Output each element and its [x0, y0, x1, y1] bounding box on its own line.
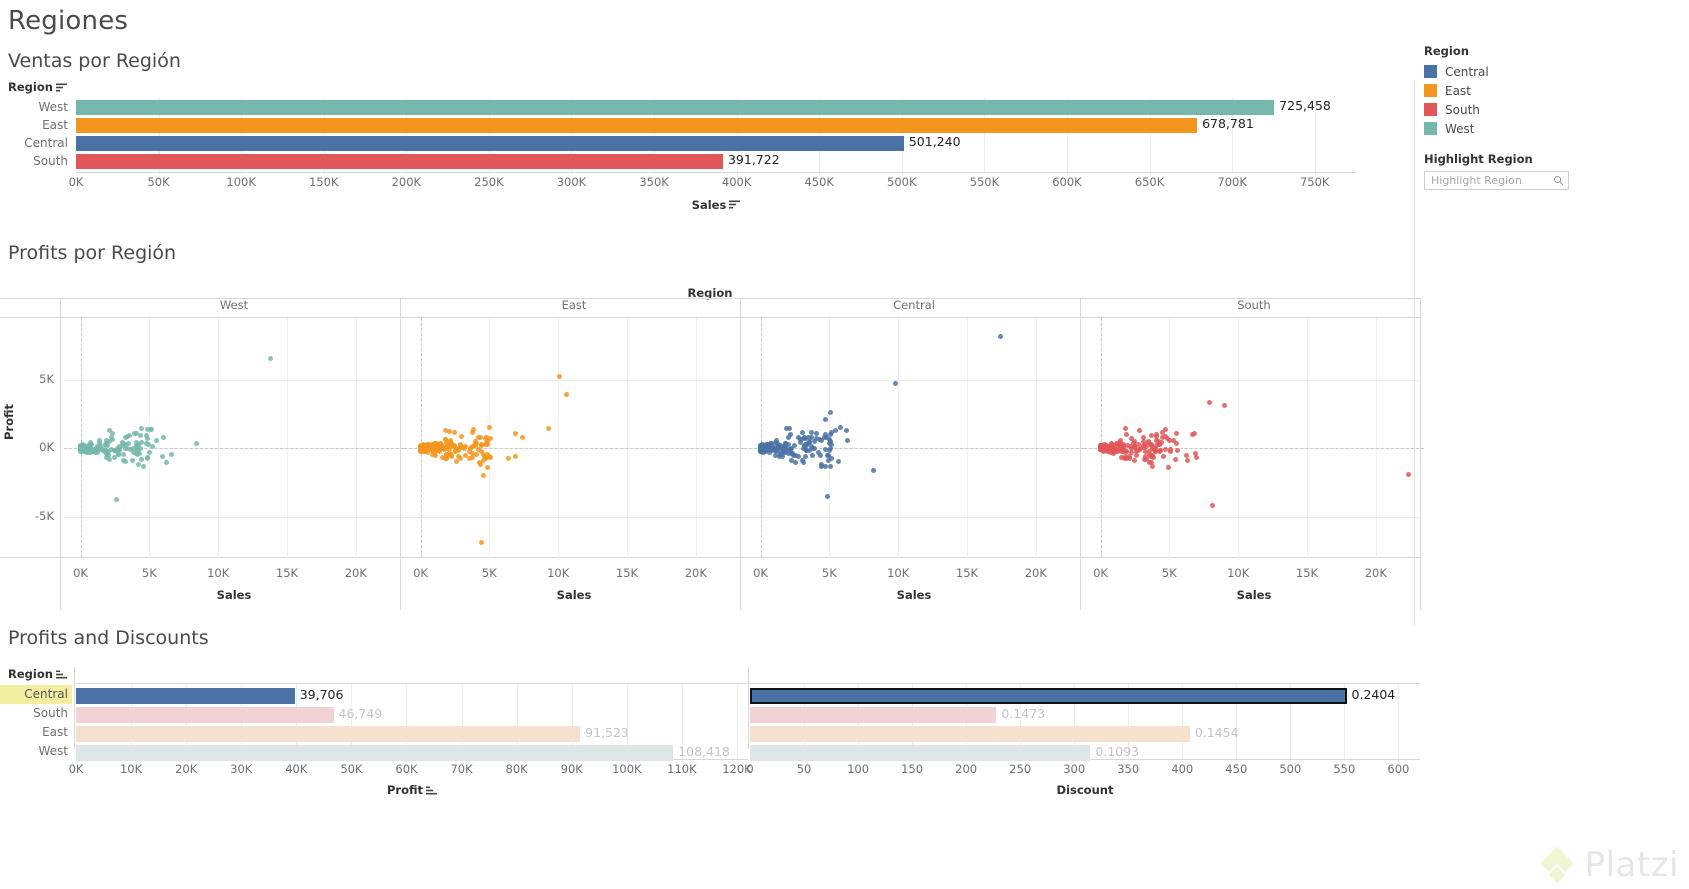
- scatter-point[interactable]: [768, 441, 773, 446]
- scatter-point[interactable]: [1174, 431, 1179, 436]
- scatter-point[interactable]: [1166, 465, 1171, 470]
- profits-row-header-label: Region: [8, 667, 53, 681]
- discount-bar-south[interactable]: [750, 707, 996, 723]
- scatter-x-gridline: [1238, 318, 1239, 558]
- scatter-point[interactable]: [828, 464, 833, 469]
- scatter-x-tick: 20K: [685, 566, 707, 580]
- profit-scatter-chart: Region Profit 5K0K-5K West0K5K10K15K20KS…: [0, 270, 1420, 615]
- legend-swatch-west: [1424, 122, 1437, 135]
- scatter-point[interactable]: [136, 462, 141, 467]
- scatter-point[interactable]: [154, 438, 159, 443]
- scatter-point-outlier[interactable]: [998, 334, 1003, 339]
- scatter-point-outlier[interactable]: [194, 441, 199, 446]
- scatter-x-gridline: [1376, 318, 1377, 558]
- profit-x-axis-title[interactable]: Profit: [76, 783, 748, 797]
- legend-item-central[interactable]: Central: [1424, 62, 1682, 81]
- scatter-point[interactable]: [1137, 428, 1142, 433]
- scatter-point[interactable]: [468, 446, 473, 451]
- discount-x-tick: 200: [955, 762, 977, 776]
- profit-x-tick: 80K: [506, 762, 528, 776]
- scatter-point[interactable]: [132, 431, 137, 436]
- scatter-point[interactable]: [448, 453, 453, 458]
- discount-x-axis-title-label: Discount: [1057, 783, 1114, 797]
- scatter-point-outlier[interactable]: [1210, 503, 1215, 508]
- sales-x-tick: 250K: [474, 175, 504, 189]
- scatter-point[interactable]: [1153, 449, 1158, 454]
- discount-value-central: 0.2404: [1352, 687, 1396, 702]
- scatter-y-tick: 5K: [8, 372, 54, 386]
- profit-bar-central[interactable]: [76, 688, 295, 704]
- scatter-point[interactable]: [471, 427, 476, 432]
- scatter-y-tick: -5K: [8, 509, 54, 523]
- discount-x-tick: 450: [1225, 762, 1247, 776]
- profit-bar-east[interactable]: [76, 726, 580, 742]
- sales-cat-west[interactable]: West: [0, 98, 72, 116]
- scatter-point-outlier[interactable]: [150, 444, 155, 449]
- scatter-point[interactable]: [1184, 453, 1189, 458]
- scatter-point[interactable]: [1113, 449, 1118, 454]
- scatter-x-tick: 10K: [547, 566, 569, 580]
- scatter-point[interactable]: [454, 459, 459, 464]
- scatter-point[interactable]: [473, 441, 478, 446]
- scatter-x-tick: 10K: [207, 566, 229, 580]
- scatter-y-tick: 0K: [8, 440, 54, 454]
- scatter-panel-west[interactable]: [64, 318, 404, 586]
- scatter-panel-title-central: Central: [744, 298, 1084, 312]
- scatter-point[interactable]: [164, 460, 169, 465]
- scatter-point[interactable]: [1125, 443, 1130, 448]
- scatter-point[interactable]: [1132, 458, 1137, 463]
- sales-x-tick: 700K: [1217, 175, 1247, 189]
- discount-x-tick: 250: [1009, 762, 1031, 776]
- scatter-point[interactable]: [1161, 454, 1166, 459]
- scatter-point[interactable]: [484, 441, 489, 446]
- profit-x-tick: 20K: [175, 762, 197, 776]
- sort-ascending-icon[interactable]: [56, 670, 67, 679]
- sales-value-central: 501,240: [909, 134, 961, 149]
- scatter-point-outlier[interactable]: [1149, 433, 1154, 438]
- scatter-point[interactable]: [1159, 440, 1164, 445]
- scatter-point[interactable]: [139, 440, 144, 445]
- discount-x-tick: 0: [746, 762, 753, 776]
- sales-axis-line: [76, 172, 1356, 173]
- scatter-point[interactable]: [1163, 447, 1168, 452]
- scatter-x-tick: 10K: [1227, 566, 1249, 580]
- scatter-y-axis-title: Profit: [2, 404, 16, 440]
- scatter-point[interactable]: [1158, 448, 1163, 453]
- scatter-panel-central[interactable]: [744, 318, 1084, 586]
- scatter-point-outlier[interactable]: [481, 473, 486, 478]
- profit-bar-west[interactable]: [76, 745, 673, 761]
- profits-cat-south[interactable]: South: [0, 704, 72, 723]
- profits-row-header[interactable]: Region: [8, 667, 67, 681]
- legend-label-west: West: [1445, 122, 1475, 136]
- scatter-point[interactable]: [1124, 449, 1129, 454]
- sales-row-header[interactable]: Region: [8, 80, 67, 94]
- sales-cat-central[interactable]: Central: [0, 134, 72, 152]
- profit-value-east: 91,523: [585, 725, 629, 740]
- scatter-point[interactable]: [448, 441, 453, 446]
- scatter-point[interactable]: [513, 454, 518, 459]
- legend-item-west[interactable]: West: [1424, 119, 1682, 138]
- scatter-x-zero-line: [1101, 318, 1102, 558]
- scatter-point[interactable]: [487, 425, 492, 430]
- scatter-point-outlier[interactable]: [1406, 472, 1411, 477]
- profit-divider: [74, 667, 75, 749]
- legend-label-east: East: [1445, 84, 1471, 98]
- scatter-x-axis-title: Sales: [1084, 588, 1424, 602]
- sort-descending-icon[interactable]: [729, 200, 740, 209]
- sales-x-tick: 600K: [1052, 175, 1082, 189]
- highlight-region-title: Highlight Region: [1424, 152, 1682, 166]
- profit-value-central: 39,706: [300, 687, 344, 702]
- sales-x-tick: 350K: [639, 175, 669, 189]
- scatter-panel-title-south: South: [1084, 298, 1424, 312]
- legend-item-south[interactable]: South: [1424, 100, 1682, 119]
- profits-cat-central[interactable]: Central: [0, 685, 72, 704]
- watermark-text: Platzi: [1585, 845, 1679, 885]
- sales-x-tick: 200K: [392, 175, 422, 189]
- profits-cat-east[interactable]: East: [0, 723, 72, 742]
- scatter-x-zero-line: [421, 318, 422, 558]
- sales-value-east: 678,781: [1202, 116, 1254, 131]
- scatter-point-outlier[interactable]: [268, 356, 273, 361]
- scatter-point[interactable]: [107, 439, 112, 444]
- scatter-point[interactable]: [1123, 454, 1128, 459]
- discount-gridline: [1398, 684, 1399, 762]
- profit-x-tick: 110K: [667, 762, 697, 776]
- scatter-point-outlier[interactable]: [564, 392, 569, 397]
- scatter-point-outlier[interactable]: [893, 381, 898, 386]
- discount-bar-east[interactable]: [750, 726, 1190, 742]
- profit-x-tick: 10K: [120, 762, 142, 776]
- sales-bar-east[interactable]: [76, 118, 1197, 133]
- scatter-point[interactable]: [814, 431, 819, 436]
- legend-label-south: South: [1445, 103, 1480, 117]
- scatter-point[interactable]: [1160, 430, 1165, 435]
- scatter-x-tick: 5K: [142, 566, 157, 580]
- scatter-point-outlier[interactable]: [1222, 403, 1227, 408]
- scatter-point-outlier[interactable]: [479, 540, 484, 545]
- scatter-point[interactable]: [513, 431, 518, 436]
- discount-value-west: 0.1093: [1095, 744, 1139, 759]
- profit-gridline: [737, 684, 738, 762]
- scatter-x-tick: 20K: [1025, 566, 1047, 580]
- scatter-point[interactable]: [786, 435, 791, 440]
- scatter-point[interactable]: [149, 427, 154, 432]
- sales-value-south: 391,722: [728, 152, 780, 167]
- discount-value-south: 0.1473: [1001, 706, 1045, 721]
- legend-panel: Region Central East South West Highlight…: [1424, 44, 1682, 190]
- sales-x-tick: 550K: [970, 175, 1000, 189]
- scatter-point[interactable]: [459, 434, 464, 439]
- discount-x-tick: 550: [1333, 762, 1355, 776]
- discount-x-tick: 100: [847, 762, 869, 776]
- sales-row-header-label: Region: [8, 80, 53, 94]
- scatter-point[interactable]: [780, 454, 785, 459]
- scatter-point[interactable]: [1137, 447, 1142, 452]
- panel-divider: [1414, 80, 1415, 625]
- profit-x-tick: 30K: [230, 762, 252, 776]
- scatter-point[interactable]: [141, 464, 146, 469]
- sales-bar-chart: Region West East Central South 725,45867…: [0, 80, 1410, 225]
- scatter-point[interactable]: [1142, 442, 1147, 447]
- scatter-point[interactable]: [827, 441, 832, 446]
- scatter-point[interactable]: [1154, 438, 1159, 443]
- page-title: Regiones: [8, 6, 128, 36]
- legend-swatch-south: [1424, 103, 1437, 116]
- sales-x-tick: 100K: [226, 175, 256, 189]
- sales-x-tick: 50K: [147, 175, 169, 189]
- scatter-x-tick: 0K: [73, 566, 88, 580]
- scatter-x-ticks: 0K5K10K15K20K: [744, 566, 1084, 582]
- discount-x-tick: 600: [1387, 762, 1409, 776]
- discount-bar-west[interactable]: [750, 745, 1090, 761]
- scatter-x-tick: 20K: [345, 566, 367, 580]
- sales-x-tick: 650K: [1135, 175, 1165, 189]
- scatter-point[interactable]: [456, 448, 461, 453]
- scatter-point-outlier[interactable]: [823, 417, 828, 422]
- scatter-point[interactable]: [130, 458, 135, 463]
- highlight-region-input[interactable]: [1429, 173, 1553, 188]
- scatter-point[interactable]: [803, 454, 808, 459]
- scatter-point[interactable]: [121, 452, 126, 457]
- scatter-x-axis-title: Sales: [744, 588, 1084, 602]
- scatter-panel-divider: [740, 298, 741, 610]
- scatter-point[interactable]: [161, 435, 166, 440]
- scatter-point[interactable]: [836, 459, 841, 464]
- sort-descending-icon[interactable]: [56, 83, 67, 92]
- scatter-x-tick: 15K: [1296, 566, 1318, 580]
- scatter-point[interactable]: [823, 464, 828, 469]
- scatter-x-gridline: [287, 318, 288, 558]
- discount-x-tick: 400: [1171, 762, 1193, 776]
- scatter-point[interactable]: [506, 456, 511, 461]
- scatter-point[interactable]: [121, 458, 126, 463]
- scatter-point[interactable]: [787, 426, 792, 431]
- scatter-point[interactable]: [112, 455, 117, 460]
- scatter-x-gridline: [356, 318, 357, 558]
- scatter-point[interactable]: [1154, 432, 1159, 437]
- sales-x-axis-title[interactable]: Sales: [76, 194, 1356, 213]
- discount-divider: [748, 667, 749, 749]
- sales-x-tick: 0K: [69, 175, 84, 189]
- scatter-panel-divider: [400, 298, 401, 610]
- scatter-point[interactable]: [123, 442, 128, 447]
- scatter-point[interactable]: [169, 452, 174, 457]
- scatter-point[interactable]: [474, 452, 479, 457]
- scatter-point[interactable]: [801, 460, 806, 465]
- scatter-point[interactable]: [827, 448, 832, 453]
- scatter-x-ticks: 0K5K10K15K20K: [404, 566, 744, 582]
- profit-x-axis-title-label: Profit: [387, 783, 423, 797]
- legend-item-east[interactable]: East: [1424, 81, 1682, 100]
- profit-bar-south[interactable]: [76, 707, 334, 723]
- scatter-x-zero-line: [761, 318, 762, 558]
- scatter-panel-title-east: East: [404, 298, 744, 312]
- scatter-point[interactable]: [107, 457, 112, 462]
- search-icon[interactable]: [1553, 175, 1564, 186]
- sales-x-ticks: 0K50K100K150K200K250K300K350K400K450K500…: [76, 175, 1356, 191]
- scatter-point-outlier[interactable]: [546, 426, 551, 431]
- scatter-point[interactable]: [792, 443, 797, 448]
- profit-x-tick: 100K: [612, 762, 642, 776]
- scatter-point-outlier[interactable]: [1207, 400, 1212, 405]
- scatter-panel-east[interactable]: [404, 318, 744, 586]
- sales-x-tick: 750K: [1300, 175, 1330, 189]
- scatter-point-outlier[interactable]: [557, 374, 562, 379]
- scatter-point[interactable]: [427, 447, 432, 452]
- scatter-point[interactable]: [452, 430, 457, 435]
- sales-x-tick: 450K: [804, 175, 834, 189]
- sales-plot-area: 725,458678,781501,240391,722: [76, 98, 1356, 170]
- profit-x-tick: 90K: [561, 762, 583, 776]
- profits-category-labels: Central South East West: [0, 685, 72, 761]
- scatter-point[interactable]: [97, 438, 102, 443]
- scatter-x-tick: 0K: [1093, 566, 1108, 580]
- scatter-x-zero-line: [81, 318, 82, 558]
- sales-cat-east[interactable]: East: [0, 116, 72, 134]
- scatter-panel-title-west: West: [64, 298, 404, 312]
- discount-top-rule: [750, 683, 1420, 684]
- scatter-point[interactable]: [1123, 426, 1128, 431]
- discount-x-tick: 50: [797, 762, 812, 776]
- scatter-point[interactable]: [139, 457, 144, 462]
- scatter-point[interactable]: [488, 455, 493, 460]
- scatter-x-gridline: [898, 318, 899, 558]
- scatter-point[interactable]: [844, 428, 849, 433]
- scatter-point[interactable]: [838, 425, 843, 430]
- scatter-x-gridline: [558, 318, 559, 558]
- profits-cat-west[interactable]: West: [0, 742, 72, 761]
- discount-x-tick: 350: [1117, 762, 1139, 776]
- scatter-x-gridline: [218, 318, 219, 558]
- scatter-x-gridline: [1307, 318, 1308, 558]
- scatter-point[interactable]: [147, 450, 152, 455]
- scatter-point[interactable]: [88, 440, 93, 445]
- scatter-point[interactable]: [845, 438, 850, 443]
- sales-value-west: 725,458: [1279, 98, 1331, 113]
- scatter-panel-south[interactable]: [1084, 318, 1424, 586]
- scatter-point[interactable]: [91, 449, 96, 454]
- scatter-point[interactable]: [833, 428, 838, 433]
- discount-x-tick: 300: [1063, 762, 1085, 776]
- profit-value-west: 108,418: [678, 744, 730, 759]
- scatter-point[interactable]: [137, 451, 142, 456]
- scatter-x-axis-title: Sales: [404, 588, 744, 602]
- scatter-y-zero-line: [744, 448, 1084, 449]
- profit-top-rule: [76, 683, 748, 684]
- scatter-x-tick: 15K: [276, 566, 298, 580]
- legend-title: Region: [1424, 44, 1682, 58]
- sales-x-tick: 300K: [557, 175, 587, 189]
- scatter-point[interactable]: [125, 434, 130, 439]
- scatter-x-tick: 15K: [616, 566, 638, 580]
- legend-label-central: Central: [1445, 65, 1489, 79]
- scatter-point[interactable]: [800, 430, 805, 435]
- scatter-x-tick: 5K: [1162, 566, 1177, 580]
- scatter-point[interactable]: [826, 458, 831, 463]
- scatter-point-outlier[interactable]: [520, 435, 525, 440]
- profit-x-tick: 50K: [340, 762, 362, 776]
- sales-x-tick: 150K: [309, 175, 339, 189]
- scatter-point[interactable]: [759, 446, 764, 451]
- scatter-point-outlier[interactable]: [871, 468, 876, 473]
- scatter-point-outlier[interactable]: [114, 497, 119, 502]
- scatter-point[interactable]: [107, 428, 112, 433]
- scatter-point[interactable]: [1175, 448, 1180, 453]
- profits-discounts-chart: Region Central South East West 0K10K20K3…: [0, 655, 1420, 889]
- scatter-x-gridline: [696, 318, 697, 558]
- scatter-x-tick: 10K: [887, 566, 909, 580]
- scatter-x-tick: 20K: [1365, 566, 1387, 580]
- scatter-x-ticks: 0K5K10K15K20K: [1084, 566, 1424, 582]
- scatter-x-gridline: [1036, 318, 1037, 558]
- scatter-x-tick: 0K: [753, 566, 768, 580]
- scatter-point[interactable]: [476, 447, 481, 452]
- highlight-region-search[interactable]: [1424, 171, 1569, 190]
- platzi-logo-icon: [1537, 845, 1577, 885]
- profit-x-tick: 60K: [395, 762, 417, 776]
- discount-bar-central[interactable]: [750, 688, 1347, 704]
- scatter-point[interactable]: [1185, 458, 1190, 463]
- scatter-point[interactable]: [1173, 457, 1178, 462]
- scatter-point[interactable]: [463, 453, 468, 458]
- scatter-point[interactable]: [444, 456, 449, 461]
- legend-swatch-east: [1424, 84, 1437, 97]
- scatter-point[interactable]: [160, 454, 165, 459]
- scatter-x-axis-title: Sales: [64, 588, 404, 602]
- scatter-point[interactable]: [1149, 460, 1154, 465]
- scatter-x-tick: 15K: [956, 566, 978, 580]
- sheet-title-scatter: Profits por Región: [8, 242, 176, 264]
- sheet-title-sales: Ventas por Región: [8, 50, 181, 72]
- scatter-panel-divider: [60, 298, 61, 610]
- scatter-x-gridline: [627, 318, 628, 558]
- scatter-x-tick: 5K: [822, 566, 837, 580]
- scatter-point[interactable]: [803, 436, 808, 441]
- scatter-x-ticks: 0K5K10K15K20K: [64, 566, 404, 582]
- sales-x-tick: 500K: [887, 175, 917, 189]
- scatter-point[interactable]: [139, 426, 144, 431]
- scatter-point[interactable]: [816, 450, 821, 455]
- sales-bar-south[interactable]: [76, 154, 723, 169]
- scatter-point-outlier[interactable]: [828, 410, 833, 415]
- sales-bar-west[interactable]: [76, 100, 1274, 115]
- sales-bar-central[interactable]: [76, 136, 904, 151]
- scatter-x-gridline: [967, 318, 968, 558]
- profit-x-tick: 40K: [285, 762, 307, 776]
- sales-x-axis-title-label: Sales: [692, 198, 727, 212]
- scatter-point[interactable]: [810, 453, 815, 458]
- scatter-point[interactable]: [812, 446, 817, 451]
- scatter-point[interactable]: [138, 433, 143, 438]
- discount-value-east: 0.1454: [1195, 725, 1239, 740]
- platzi-watermark: Platzi: [1537, 845, 1679, 885]
- scatter-point[interactable]: [819, 438, 824, 443]
- scatter-point[interactable]: [1192, 431, 1197, 436]
- scatter-panel-divider: [1080, 298, 1081, 610]
- discount-x-tick: 150: [901, 762, 923, 776]
- scatter-point[interactable]: [793, 460, 798, 465]
- sales-cat-south[interactable]: South: [0, 152, 72, 170]
- discount-x-axis-title[interactable]: Discount: [750, 783, 1420, 797]
- sheet-title-profits-discounts: Profits and Discounts: [8, 627, 209, 649]
- profit-value-south: 46,749: [339, 706, 383, 721]
- profit-x-tick: 0K: [69, 762, 84, 776]
- sales-x-tick: 400K: [722, 175, 752, 189]
- sort-ascending-icon[interactable]: [426, 786, 437, 795]
